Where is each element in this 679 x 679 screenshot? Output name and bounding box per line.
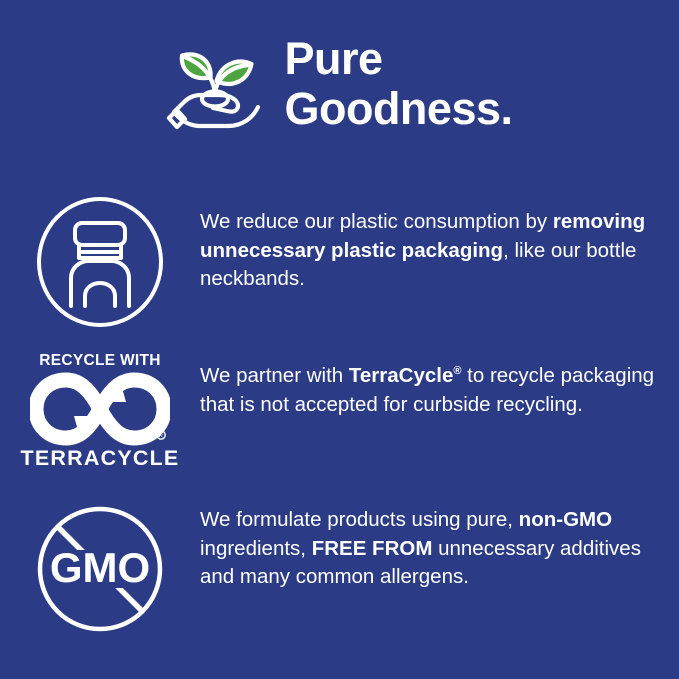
- infinity-recycle-arrows-icon: R: [30, 372, 170, 446]
- gmo-label: GMO: [50, 544, 150, 591]
- text-segment-bold: FREE FROM: [312, 537, 433, 560]
- feature-icon-container: GMO: [0, 498, 200, 632]
- text-segment-bold: non-GMO: [519, 508, 612, 531]
- text-segment: We formulate products using pure,: [200, 508, 519, 531]
- feature-row-terracycle: RECYCLE WITH R TERRACYCLE We partner wit…: [0, 348, 679, 470]
- pure-goodness-infographic: Pure Goodness. We reduce our plastic con…: [0, 0, 679, 679]
- feature-row-plastic-reduction: We reduce our plastic consumption by rem…: [0, 196, 679, 328]
- text-segment: ingredients,: [200, 537, 312, 560]
- page-title: Pure Goodness.: [284, 28, 512, 134]
- feature-icon-container: [0, 196, 200, 328]
- terracycle-logo: RECYCLE WITH R TERRACYCLE: [29, 352, 171, 470]
- svg-text:R: R: [159, 434, 163, 440]
- text-segment-bold: TerraCycle: [349, 364, 453, 387]
- terracycle-wordmark: TERRACYCLE: [21, 447, 180, 470]
- bottle-neckband-circle-icon: [35, 196, 165, 328]
- feature-row-non-gmo: GMO We formulate products using pure, no…: [0, 498, 679, 632]
- header: Pure Goodness.: [0, 28, 679, 158]
- feature-text-terracycle: We partner with TerraCycle® to recycle p…: [200, 348, 679, 419]
- no-gmo-circle-icon: GMO: [35, 506, 165, 632]
- terracycle-top-label: RECYCLE WITH: [39, 352, 161, 369]
- feature-text-non-gmo: We formulate products using pure, non-GM…: [200, 498, 679, 592]
- text-segment: We partner with: [200, 364, 349, 387]
- feature-icon-container: RECYCLE WITH R TERRACYCLE: [0, 348, 200, 470]
- text-segment: We reduce our plastic consumption by: [200, 210, 553, 233]
- hand-holding-sprout-icon: [166, 34, 270, 138]
- feature-text-plastic-reduction: We reduce our plastic consumption by rem…: [200, 196, 679, 294]
